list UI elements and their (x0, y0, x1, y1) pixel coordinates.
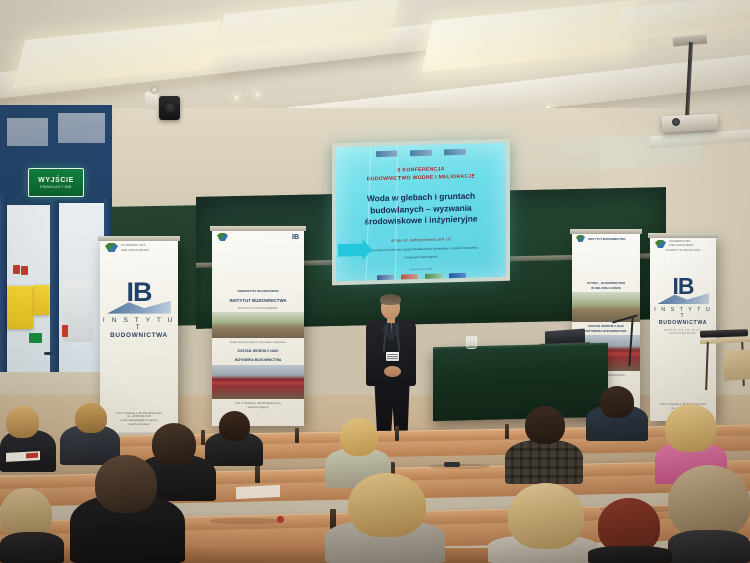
desk-divider (505, 424, 509, 439)
camera-bracket (145, 92, 158, 109)
banner-caption-2: ZOSTAŃ JEDNYM Z NAS! (212, 347, 304, 356)
banner-university-english: UNIVERSITY OF ZIELONA GÓRA (650, 250, 716, 255)
audience-person-head (6, 406, 39, 438)
banner-university-name: UNIWERSYTET ZIELONOGÓRSKI (669, 240, 711, 247)
slide-kicker: II KONFERENCJA BUDOWNICTWO WODNE I MELIO… (336, 165, 506, 185)
banner-right-top-bar (648, 233, 718, 238)
banner-right: UNIWERSYTET ZIELONOGÓRSKI UNIVERSITY OF … (650, 236, 716, 421)
notice-board-yellow-1 (7, 286, 33, 329)
security-camera (150, 86, 159, 94)
uz-logo-icon (655, 240, 666, 248)
banner-photo-worksite (212, 312, 304, 338)
banner-institute-line1: I N S T Y T U T (100, 317, 178, 331)
slide-title: Woda w glebach i gruntach budowlanych – … (336, 189, 506, 229)
uz-logo-icon (105, 243, 118, 252)
banner-ib-logo: IB (100, 280, 178, 306)
lecture-hall-photo: II KONFERENCJA BUDOWNICTWO WODNE I MELIO… (0, 0, 750, 563)
desk-item-red (277, 516, 284, 523)
desk-divider (255, 466, 260, 483)
door-transom-right (58, 113, 105, 143)
audience-person-body (0, 532, 64, 563)
desk-scuff (430, 464, 490, 469)
audience-person-head (348, 473, 426, 537)
ceiling-downlight (253, 92, 262, 97)
uz-logo-icon (576, 235, 585, 242)
banner-photo-campus (572, 243, 640, 279)
water-glass (466, 336, 477, 349)
audience-person-head (219, 411, 250, 441)
emergency-exit-sign: WYJŚCIE EWAKUACYJNE (28, 168, 84, 197)
banner-center: IB UNIWERSYTET ZIELONOGÓRSKI INSTYTUT BU… (212, 229, 304, 426)
projection-screen: II KONFERENCJA BUDOWNICTWO WODNE I MELIO… (336, 143, 506, 281)
banner-institute-line1: INSTYTUT BUDOWNICTWA (212, 296, 304, 307)
banner-institute-line1: INSTYTUT BUDOWNICTWA (588, 237, 626, 241)
banner-header: UNIWERSYTET ZIELONOGÓRSKI (100, 239, 178, 254)
banner-center-top-bar (210, 226, 306, 231)
speaker-hair (380, 294, 401, 305)
banner-footer: Prof. Z. Szafrana 1, 65-516 Zielona Góra… (212, 399, 304, 410)
ceiling-downlight (232, 95, 241, 100)
speaker-hands (384, 366, 401, 377)
projector-lens-icon (672, 118, 680, 126)
fire-extinguisher-sign-icon (62, 325, 68, 337)
audience-person-body (588, 546, 672, 563)
banner-caption-3: INŻYNIERIA BUDOWNICTWA (212, 356, 304, 365)
banner-ib-logo: IB (292, 234, 299, 241)
banner-left-top-bar (98, 236, 180, 241)
slide-header-logos (336, 148, 506, 158)
phone-on-desk (444, 462, 460, 467)
paper-on-desk (236, 485, 280, 499)
door-handle[interactable] (44, 352, 53, 355)
audience-person-head (668, 465, 750, 539)
door-transom-left (7, 118, 48, 146)
banner-caption-1: Studia I stopnia, II stopnia, inżyniersk… (212, 338, 304, 347)
banner-university-name: UNIWERSYTET ZIELONOGÓRSKI (121, 243, 173, 251)
fire-equipment-sign-icon (13, 265, 20, 274)
logo-partner-icon (444, 149, 466, 156)
pen-on-desk (26, 453, 38, 459)
banner-institute-line1: I N S T Y T U T (650, 307, 716, 319)
banner-photo-right-top-bar (570, 229, 642, 234)
exit-sign-line1: WYJŚCIE (38, 177, 74, 184)
banner-header: IB (212, 229, 304, 243)
audience-person-head (508, 483, 584, 549)
speaker-badge-text (387, 354, 398, 359)
audience-person-head (95, 455, 157, 513)
desk-scuff (210, 518, 280, 524)
audience-person-head (340, 418, 378, 456)
audience-person-head (75, 403, 107, 433)
emergency-exit-pictogram-icon (29, 333, 42, 343)
banner-photo-group (212, 365, 304, 399)
presenter-table (433, 345, 608, 422)
logo-uz-icon (376, 151, 398, 158)
desk-divider (395, 426, 399, 441)
banner-header: UNIWERSYTET ZIELONOGÓRSKI (650, 236, 716, 250)
uz-logo-icon (217, 233, 228, 241)
ceiling-projector (662, 114, 719, 133)
banner-university-name: UNIWERSYTET ZIELONOGÓRSKI (212, 287, 304, 296)
exit-sign-line2: EWAKUACYJNE (40, 185, 72, 189)
audience-person-head (525, 406, 565, 444)
audience-person-head (600, 386, 634, 418)
speaker-cone (164, 101, 176, 113)
banner-institute-line2: BUDOWNICTWA (100, 332, 178, 339)
notice-board-yellow-2 (34, 285, 49, 315)
banner-photo-campus (212, 243, 304, 287)
banner-left: UNIWERSYTET ZIELONOGÓRSKI IB I N S T Y T… (100, 239, 178, 434)
audience-person-body-plaid-shirt (505, 440, 583, 484)
audience-person-head (665, 404, 717, 452)
side-chair (724, 349, 750, 381)
audience-person-head (152, 423, 196, 465)
desk-divider (295, 428, 299, 443)
audience-person-body (668, 530, 750, 563)
fire-equipment-sign-icon (21, 266, 28, 275)
banner-institute-line2: BUDOWNICTWA (650, 320, 716, 326)
logo-institute-icon (410, 150, 432, 157)
